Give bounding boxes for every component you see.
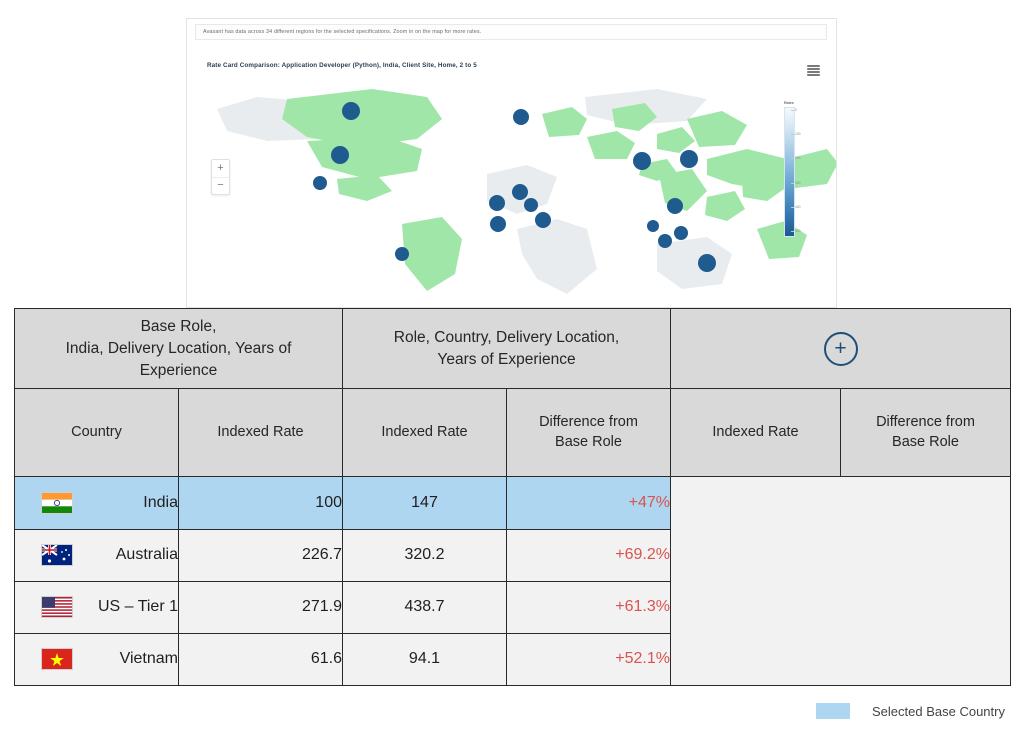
row-base-indexed-rate: 100: [179, 477, 343, 529]
country-label: Australia: [116, 546, 178, 563]
rate-scale-title: Rates: [784, 101, 824, 105]
table-row[interactable]: India 100 147 +47%: [15, 477, 1011, 529]
rate-scale-tick: 500: [795, 229, 801, 233]
difference-label-line1: Difference from: [876, 414, 975, 430]
row-base-indexed-rate: 226.7: [179, 529, 343, 581]
group-header-base-role: Base Role, India, Delivery Location, Yea…: [15, 309, 343, 389]
difference-label-line2: Base Role: [892, 434, 959, 450]
map-zoom-controls[interactable]: + −: [211, 159, 230, 195]
row-base-indexed-rate: 271.9: [179, 581, 343, 633]
row-country-cell: US – Tier 1: [15, 581, 179, 633]
row-role-difference: +47%: [507, 477, 671, 529]
country-label: US – Tier 1: [98, 598, 178, 615]
row-role-difference: +69.2%: [507, 529, 671, 581]
difference-label-line2: Base Role: [555, 434, 622, 450]
australia-flag-icon: [41, 544, 73, 566]
country-label: Vietnam: [120, 650, 178, 667]
rate-scale-tick: 400: [795, 205, 801, 209]
map-widget: Avasant has data across 34 different reg…: [186, 18, 837, 308]
column-header-difference-third[interactable]: Difference from Base Role: [841, 389, 1011, 477]
group2-line1: Role, Country, Delivery Location,: [394, 329, 619, 346]
vietnam-flag-icon: [41, 648, 73, 670]
row-role-difference: +52.1%: [507, 633, 671, 685]
row-country-cell: Vietnam: [15, 633, 179, 685]
rate-comparison-table: Base Role, India, Delivery Location, Yea…: [14, 308, 1011, 686]
world-map-canvas[interactable]: [187, 79, 837, 308]
empty-comparison-area[interactable]: [671, 477, 1011, 686]
row-role-indexed-rate: 147: [343, 477, 507, 529]
group1-line1: Base Role,: [141, 318, 217, 335]
world-map-svg: [187, 79, 837, 308]
table-subheader-row: Country Indexed Rate Indexed Rate Differ…: [15, 389, 1011, 477]
legend-label: Selected Base Country: [872, 704, 1005, 719]
zoom-in-button[interactable]: +: [212, 160, 229, 178]
row-role-indexed-rate: 320.2: [343, 529, 507, 581]
rate-scale-tick: 200: [795, 156, 801, 160]
rate-scale-tick: 0: [795, 108, 797, 112]
column-header-indexed-rate-base[interactable]: Indexed Rate: [179, 389, 343, 477]
column-header-indexed-rate-third[interactable]: Indexed Rate: [671, 389, 841, 477]
india-flag-icon: [41, 492, 73, 514]
rate-scale-tick: 100: [795, 132, 801, 136]
map-notice-bar: Avasant has data across 34 different reg…: [195, 24, 827, 40]
legend: Selected Base Country: [816, 703, 1005, 719]
group-header-role-country: Role, Country, Delivery Location, Years …: [343, 309, 671, 389]
group1-line3: Experience: [140, 362, 218, 379]
row-role-indexed-rate: 94.1: [343, 633, 507, 685]
group2-line2: Years of Experience: [437, 351, 575, 368]
column-header-difference-role[interactable]: Difference from Base Role: [507, 389, 671, 477]
column-header-indexed-rate-role[interactable]: Indexed Rate: [343, 389, 507, 477]
row-role-indexed-rate: 438.7: [343, 581, 507, 633]
rate-scale-tick: 300: [795, 181, 801, 185]
legend-swatch-selected-base-country: [816, 703, 850, 719]
usa-flag-icon: [41, 596, 73, 618]
row-role-difference: +61.3%: [507, 581, 671, 633]
hamburger-menu-icon[interactable]: [807, 65, 820, 76]
rate-color-scale-legend: Rates 0 100 200 300 400 500: [784, 101, 824, 237]
rate-scale-gradient: [784, 107, 795, 237]
zoom-out-button[interactable]: −: [212, 178, 229, 195]
add-comparison-icon[interactable]: +: [824, 332, 858, 366]
table-group-header-row: Base Role, India, Delivery Location, Yea…: [15, 309, 1011, 389]
row-country-cell: Australia: [15, 529, 179, 581]
group1-line2: India, Delivery Location, Years of: [66, 340, 292, 357]
map-title: Rate Card Comparison: Application Develo…: [207, 62, 477, 69]
group-header-add-comparison[interactable]: +: [671, 309, 1011, 389]
row-country-cell: India: [15, 477, 179, 529]
column-header-country[interactable]: Country: [15, 389, 179, 477]
difference-label-line1: Difference from: [539, 414, 638, 430]
country-label: India: [143, 494, 178, 511]
row-base-indexed-rate: 61.6: [179, 633, 343, 685]
